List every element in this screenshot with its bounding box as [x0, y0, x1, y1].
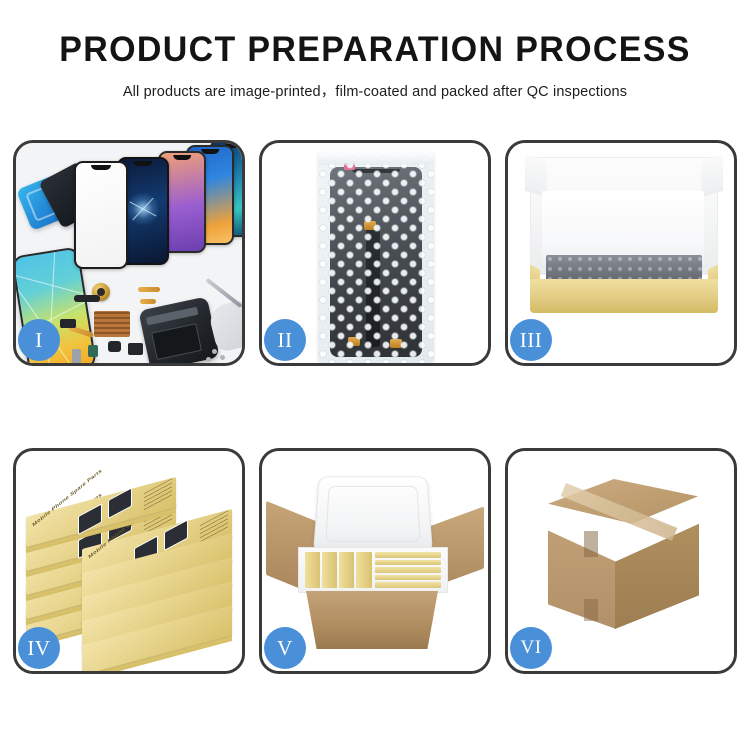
step-badge-6: VI	[510, 627, 552, 669]
inner-box	[305, 552, 320, 588]
spare-part-flex-cable	[140, 299, 156, 304]
foam-liner	[298, 547, 448, 593]
phone-screen-white-icon	[74, 161, 128, 269]
spare-part-module	[60, 319, 76, 328]
connector-grid-icon	[94, 311, 130, 337]
carton-seam	[584, 531, 598, 557]
screw-icon	[206, 357, 211, 362]
battery-cell	[151, 323, 202, 360]
bubble-texture	[318, 151, 434, 363]
carton-seam	[584, 599, 598, 621]
carton-left-face	[548, 517, 616, 629]
box-thumbnail	[108, 487, 132, 519]
step-badge-1: I	[18, 319, 60, 361]
notch-icon	[91, 165, 111, 170]
process-step-grid: I II	[0, 140, 750, 674]
spare-part-module	[128, 343, 143, 355]
kraft-box-top: Mobile Phone Spare Parts	[26, 497, 176, 523]
foam-lid-open-icon	[313, 476, 433, 553]
page-title: PRODUCT PREPARATION PROCESS	[11, 32, 739, 69]
notch-icon	[133, 161, 152, 166]
step-badge-2: II	[264, 319, 306, 361]
box-group-horizontal	[375, 552, 442, 588]
bag-seal-icon	[318, 151, 434, 165]
bubble-wrap-bag-icon	[318, 151, 434, 363]
lid-flap-right	[701, 155, 723, 197]
yellow-boxes-inside	[305, 552, 441, 588]
spare-part-button	[108, 341, 121, 352]
box-spec-lines	[144, 478, 172, 511]
inner-box	[375, 567, 442, 573]
spare-part-flex-cable	[138, 287, 160, 292]
spare-part-chip	[88, 345, 98, 357]
step-panel-3: III	[505, 140, 737, 366]
spare-part-sim-tray	[72, 349, 81, 363]
step-panel-2: II	[259, 140, 491, 366]
step-badge-3: III	[510, 319, 552, 361]
foam-sheet-icon	[542, 191, 704, 265]
crack-pattern-icon	[126, 192, 160, 226]
page-header: PRODUCT PREPARATION PROCESS All products…	[0, 0, 750, 101]
step-badge-4: IV	[18, 627, 60, 669]
inner-box	[375, 575, 442, 581]
carton-front-panel	[306, 591, 438, 649]
screw-icon	[212, 349, 217, 354]
inner-box	[339, 552, 354, 588]
step-panel-4: Mobile Phone Spare Parts Mobile Phone Sp…	[13, 448, 245, 674]
inner-box	[375, 560, 442, 566]
step-panel-5: V	[259, 448, 491, 674]
yellow-box-tray-icon	[530, 267, 718, 313]
kraft-box	[82, 625, 232, 651]
carton-body	[298, 547, 446, 649]
inner-box	[322, 552, 337, 588]
box-group-vertical	[305, 552, 372, 588]
kraft-box-stack: Mobile Phone Spare Parts Mobile Phone Sp…	[26, 469, 238, 665]
inner-box	[356, 552, 371, 588]
page-subtitle: All products are image-printed，film-coat…	[0, 80, 750, 101]
inner-box	[375, 552, 442, 558]
chassis-strip	[146, 307, 199, 326]
step-badge-5: V	[264, 627, 306, 669]
spare-part-speaker	[74, 295, 100, 302]
step-panel-1: I	[13, 140, 245, 366]
inner-box	[375, 582, 442, 588]
step-panel-6: VI	[505, 448, 737, 674]
phone-screen-fan	[74, 157, 242, 269]
notch-icon	[173, 155, 191, 160]
sealed-carton-icon	[532, 479, 710, 641]
tray-front-panel	[530, 279, 718, 313]
screw-icon	[220, 355, 225, 360]
